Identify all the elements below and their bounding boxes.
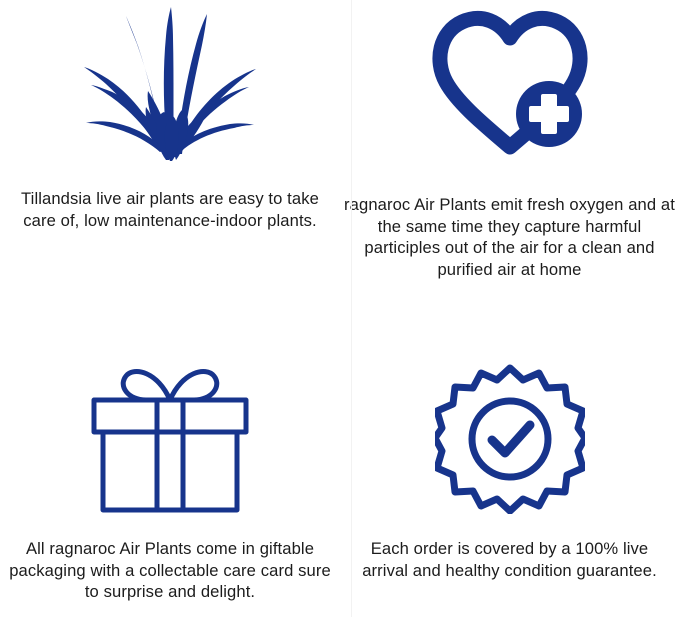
panel-caption: All ragnaroc Air Plants come in giftable…	[0, 538, 340, 603]
feature-grid: Tillandsia live air plants are easy to t…	[0, 0, 679, 617]
feature-highlights-panel: Tillandsia live air plants are easy to t…	[0, 0, 679, 617]
feature-panel-air-plant-care: Tillandsia live air plants are easy to t…	[0, 0, 340, 308]
panel-caption: Tillandsia live air plants are easy to t…	[0, 188, 340, 231]
feature-panel-air-purification: ragnaroc Air Plants emit fresh oxygen an…	[340, 0, 679, 308]
panel-caption: ragnaroc Air Plants emit fresh oxygen an…	[340, 194, 679, 280]
tillandsia-plant-icon-wrap	[0, 0, 340, 188]
gift-box-icon	[84, 362, 256, 514]
heart-plus-icon	[428, 8, 592, 158]
feature-panel-giftable-packaging: All ragnaroc Air Plants come in giftable…	[0, 308, 340, 617]
heart-plus-icon-wrap	[340, 0, 679, 194]
panel-caption: Each order is covered by a 100% live arr…	[340, 538, 679, 581]
gift-box-icon-wrap	[0, 308, 340, 538]
verified-badge-icon	[435, 362, 585, 514]
verified-badge-icon-wrap	[340, 308, 679, 538]
tillandsia-plant-icon	[80, 2, 260, 172]
feature-panel-arrival-guarantee: Each order is covered by a 100% live arr…	[340, 308, 679, 617]
